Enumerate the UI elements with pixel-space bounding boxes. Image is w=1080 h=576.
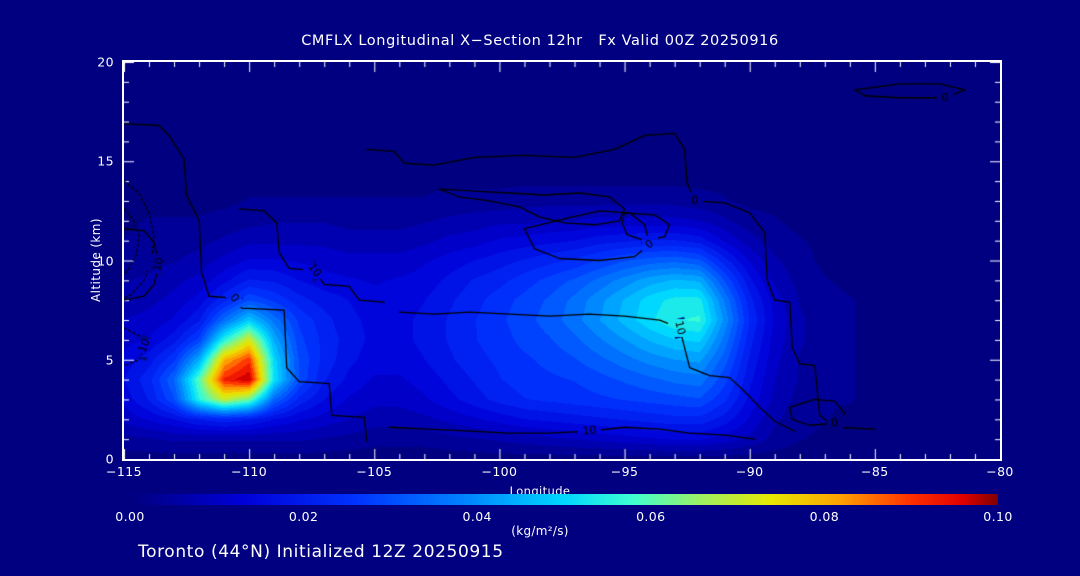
plot-area [122, 60, 1002, 461]
y-axis-label: Altitude (km) [89, 218, 103, 302]
x-tick-label: −110 [231, 464, 267, 479]
y-tick-label: 15 [97, 154, 114, 169]
colorbar-tick-label: 0.06 [636, 509, 665, 524]
cross-section-figure: CMFLX Longitudinal X−Section 12hr Fx Val… [0, 0, 1080, 576]
figure-title: CMFLX Longitudinal X−Section 12hr Fx Val… [0, 33, 1080, 49]
x-tick-label: −85 [861, 464, 889, 479]
colorbar [130, 494, 998, 505]
x-tick-label: −90 [736, 464, 764, 479]
x-tick-label: −100 [481, 464, 517, 479]
y-tick-label: 0 [106, 452, 114, 467]
colorbar-tick-label: 0.04 [462, 509, 491, 524]
contour-fill-canvas [124, 62, 1000, 459]
colorbar-tick-label: 0.00 [115, 509, 144, 524]
figure-caption: Toronto (44°N) Initialized 12Z 20250915 [138, 542, 504, 562]
colorbar-unit-label: (kg/m²/s) [0, 524, 1080, 538]
colorbar-gradient [130, 494, 998, 505]
x-tick-label: −95 [611, 464, 639, 479]
x-tick-label: −105 [356, 464, 392, 479]
y-tick-label: 5 [106, 352, 114, 367]
colorbar-tick-label: 0.08 [810, 509, 839, 524]
y-tick-label: 20 [97, 55, 114, 70]
x-tick-label: −80 [986, 464, 1014, 479]
colorbar-tick-label: 0.10 [983, 509, 1012, 524]
colorbar-tick-label: 0.02 [289, 509, 318, 524]
